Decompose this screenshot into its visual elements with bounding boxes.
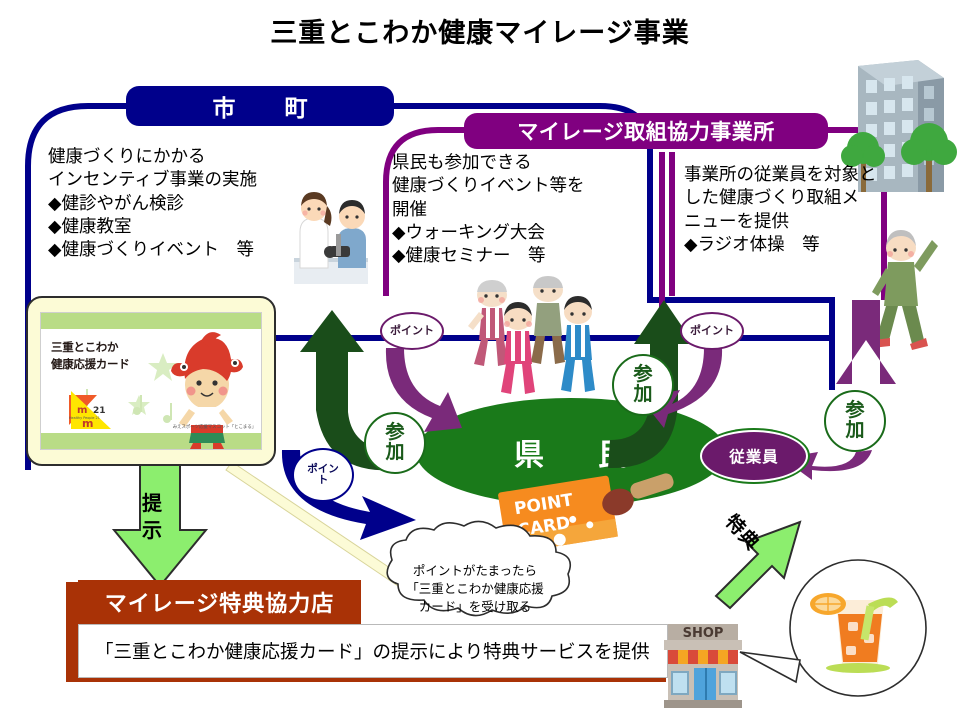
- badge-point-event-label: ポイント: [690, 325, 734, 337]
- badge-join-event: 参 加: [612, 354, 674, 416]
- badge-point-card-label: ポイン ト: [307, 464, 339, 486]
- badge-join-office: 参 加: [824, 390, 886, 452]
- badge-point-city: ポイント: [380, 312, 444, 350]
- diagram-canvas: 三重とこわか健康マイレージ事業: [0, 0, 960, 720]
- badge-point-city-label: ポイント: [390, 325, 434, 337]
- stamp-illustration: [599, 472, 676, 520]
- badge-join-city-label: 参 加: [385, 423, 404, 463]
- badge-join-city: 参 加: [364, 412, 426, 474]
- cloud-bubble: ポイントがたまったら 「三重とこわか健康応援 カード」を受け取る: [372, 552, 578, 626]
- arrow-label-present-line2: 示: [126, 517, 178, 544]
- arrow-label-present: 提 示: [126, 490, 178, 544]
- shop-building-illustration: SHOP: [664, 624, 742, 708]
- badge-join-office-label: 参 加: [845, 401, 864, 441]
- badge-point-card: ポイン ト: [292, 448, 354, 502]
- drink-balloon: [740, 560, 926, 696]
- shop-sign-label: SHOP: [683, 626, 724, 641]
- badge-join-event-label: 参 加: [633, 365, 652, 405]
- badge-point-event: ポイント: [680, 312, 744, 350]
- arrow-label-present-line1: 提: [126, 490, 178, 517]
- cloud-bubble-text: ポイントがたまったら 「三重とこわか健康応援 カード」を受け取る: [372, 562, 578, 615]
